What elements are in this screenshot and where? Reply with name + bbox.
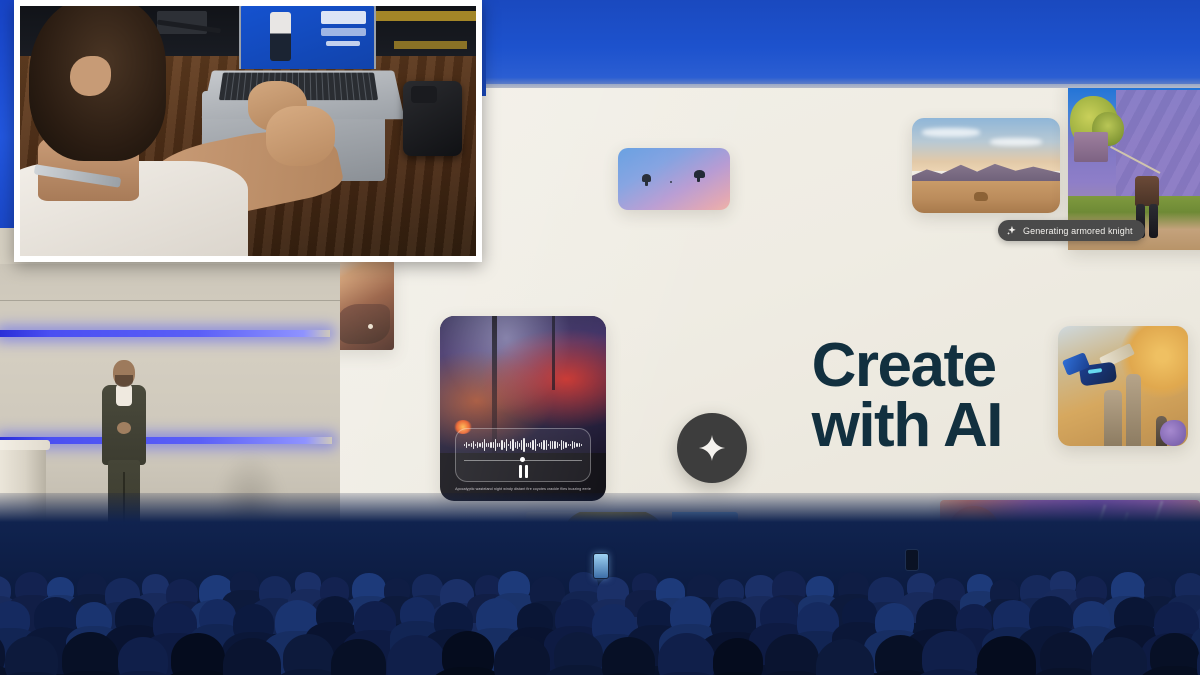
waveform-bar [552,441,553,449]
audience-head [5,636,58,675]
audience-head [384,578,410,602]
waveform-bar [499,443,500,447]
waveform-bar [557,442,558,448]
waveform-bar [517,441,518,449]
audience-head [907,573,935,599]
audience-head [956,604,992,637]
audience-head [1175,573,1200,602]
waveform-bar [504,442,505,448]
audience-head [1029,596,1073,637]
audience-phone-recording [593,553,609,579]
stage-pillar-cap [0,440,50,450]
audience-head [658,633,715,675]
audience-head [670,596,711,634]
audience-head [875,603,914,639]
inset-photo-laptop-user [14,0,482,262]
waveform-bar [574,442,575,448]
pause-icon[interactable] [518,465,528,478]
robot-spire [1104,390,1122,446]
waveform-bar [486,443,487,446]
waveform-bar [570,444,571,446]
audience-head [816,639,874,675]
audio-generation-card[interactable]: Apocalyptic wasteland night windy distan… [440,316,606,501]
generating-status-badge: Generating armored knight [998,220,1145,241]
audience-head [76,602,112,635]
inset-right-blue-strip [482,0,486,96]
waveform-bar [539,443,540,448]
desert-cloud [922,128,980,137]
audience-head [400,597,435,629]
audience-head [602,637,655,675]
audience-head [0,601,30,637]
desert-cloud [990,138,1042,146]
presenter-hands [117,422,131,434]
audience-head [498,571,529,600]
inset-photo-content [20,6,476,256]
waveform-bar [532,440,533,451]
inset-app-avatar [270,12,291,61]
audience-row-front [0,635,1200,675]
waveform-bar [563,441,564,449]
waveform-bar [501,440,502,449]
audience-head [517,603,553,636]
audience-head [171,633,225,675]
fragment-shape [340,304,390,344]
audience-head [555,599,595,636]
audience-head [118,637,168,675]
led-accent-strip-upper [0,330,330,337]
inset-app-panel [321,28,366,36]
audience-head [142,574,169,599]
audience-head [1091,637,1147,675]
inset-phone-on-desk [403,81,462,156]
presenter-beard [115,375,133,387]
parachute-speck [670,181,672,183]
inset-shelf-accent [394,41,467,49]
audience-head [1144,577,1171,602]
waveform-bar [508,444,509,447]
audience-head [713,638,763,675]
audience-head [0,576,11,603]
audience-head [838,572,869,601]
audience-head [230,571,258,597]
audience-head [765,634,819,675]
waveform-bar [475,444,476,447]
audience-head [1040,632,1092,675]
waveform-bar [479,443,480,446]
ai-generate-button[interactable] [677,413,747,483]
audience-head [295,572,320,595]
inset-app-input [326,41,361,47]
desert-landscape-card[interactable] [912,118,1060,213]
audience-head [494,636,550,675]
waveform-bar [572,441,573,449]
waveform-bar [550,441,551,449]
waveform-bar [559,444,560,446]
waveform-bar [471,443,472,447]
audience-head [62,632,119,675]
waveform-bar [530,442,531,447]
waveform-bar [548,444,549,446]
waveform-bar [546,440,547,450]
waveform-bar [535,439,536,452]
audience-head [387,635,446,675]
audience-head [77,573,107,601]
parachute-gradient-card[interactable] [618,148,730,210]
sci-fi-robot-card[interactable] [1058,326,1188,446]
waveform-bar [576,443,577,446]
waveform-bar [495,439,496,451]
desert-rock [974,192,988,201]
audience-head [1050,571,1076,595]
waveform-bar [515,442,516,447]
waveform-bar [477,442,478,448]
waveform-bar [510,441,511,449]
audio-progress-handle[interactable] [520,457,525,462]
image-fragment-card[interactable] [340,260,394,350]
inset-phone-camera [411,86,437,103]
audio-player[interactable] [455,428,591,482]
waveform-bar [561,440,562,449]
audience-head [283,634,334,675]
audience-head [875,635,926,675]
audience-head [632,573,657,596]
waveform-bar [523,438,524,451]
robot-mech [1066,354,1128,396]
waveform-icon [464,437,582,453]
inset-laptop-screen [239,6,376,69]
audience-head [223,638,281,675]
parachute-icon-left [642,174,651,182]
audience-head [442,631,494,675]
audience-head [316,596,354,631]
waveform-bar [568,444,569,447]
audience-head [1150,633,1199,675]
audience-phone-secondary [905,549,919,571]
waveform-bar [506,439,507,450]
waveform-bar [554,441,555,449]
waveform-bar [464,444,465,446]
audience-head [922,631,977,675]
waveform-bar [519,443,520,446]
wall-seam [0,300,340,301]
waveform-bar [490,442,491,448]
audience-head [199,599,236,633]
audio-artwork-tree [552,316,555,390]
waveform-bar [473,441,474,450]
presenter-shirt [116,384,132,406]
waveform-bar [484,439,485,450]
knight-leg-right [1149,204,1158,238]
robot-purple-rock [1160,420,1186,446]
waveform-bar [579,443,580,447]
waveform-bar [526,443,527,447]
audience-crowd [0,493,1200,675]
audience-head [842,598,877,630]
audience-head [554,632,603,675]
waveform-bar [521,440,522,450]
page-title: Create with AI [812,336,1002,455]
parachute-icon-right [694,170,705,178]
audience-head [1114,597,1155,635]
waveform-bar [512,439,513,451]
fragment-highlight [368,324,373,329]
waveform-bar [543,440,544,450]
waveform-bar [493,442,494,448]
waveform-bar [541,442,542,449]
sparkle-icon [1006,225,1017,236]
robot-spire [1126,374,1141,446]
waveform-bar [581,444,582,447]
waveform-bar [528,443,529,447]
waveform-bar [468,444,469,447]
waveform-bar [537,444,538,447]
audience-head [1073,601,1110,635]
audience-head [977,636,1036,675]
waveform-bar [488,443,489,446]
waveform-bar [466,442,467,448]
inset-person-ear [70,56,111,96]
generating-status-label: Generating armored knight [1023,226,1133,236]
inset-app-panel [321,11,366,25]
ceiling-blue-band [480,0,1200,86]
audience-head [115,598,155,635]
knight-house [1074,132,1108,162]
waveform-bar [482,442,483,447]
audience-head [331,639,386,675]
audience-head [806,576,833,601]
waveform-bar [497,443,498,446]
waveform-bar [565,442,566,447]
sparkle-icon [697,433,727,463]
knight-armor-body [1135,176,1159,206]
audience-head [760,597,798,632]
screenshot-root: Generating armored knight Create with AI [0,0,1200,675]
inset-person-hand-right [266,106,334,166]
